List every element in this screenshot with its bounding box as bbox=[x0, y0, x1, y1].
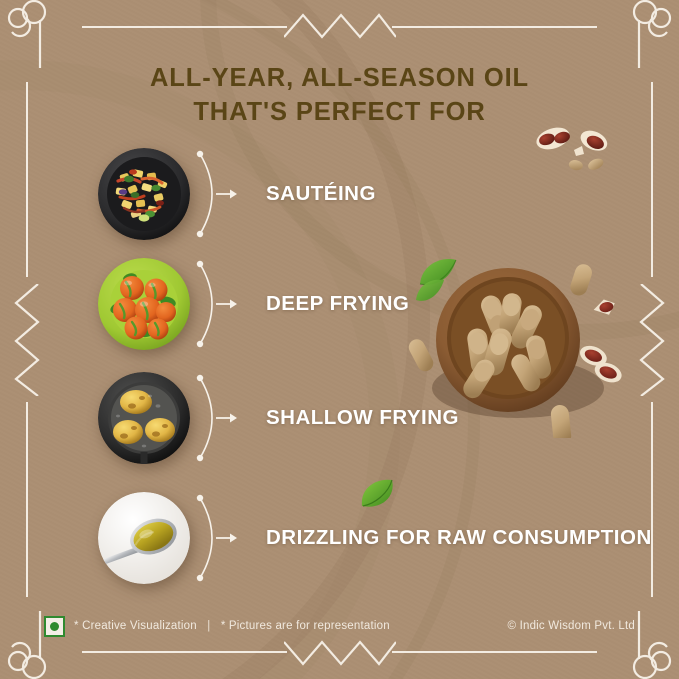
stir-fry-pan-image bbox=[98, 148, 190, 240]
connector-line bbox=[190, 372, 266, 464]
footer-notes: * Creative Visualization | * Pictures ar… bbox=[74, 620, 390, 632]
use-item-shallow-frying[interactable]: SHALLOW FRYING bbox=[98, 372, 459, 464]
use-label-deep-frying: DEEP FRYING bbox=[266, 292, 409, 316]
vegetarian-dot bbox=[50, 622, 59, 631]
use-item-deep-frying[interactable]: DEEP FRYING bbox=[98, 258, 409, 350]
footer-separator: | bbox=[207, 620, 210, 632]
title-line-1: ALL-YEAR, ALL-SEASON OIL bbox=[150, 64, 529, 92]
green-plate-fritters-image bbox=[98, 258, 190, 350]
use-item-drizzling[interactable]: DRIZZLING FOR RAW CONSUMPTION bbox=[98, 492, 652, 584]
use-item-sauteing[interactable]: SAUTÉING bbox=[98, 148, 376, 240]
connector-line bbox=[190, 258, 266, 350]
copyright-text: © Indic Wisdom Pvt. Ltd bbox=[508, 620, 635, 632]
footer-note-1: * Creative Visualization bbox=[74, 620, 197, 632]
use-label-sauteing: SAUTÉING bbox=[266, 182, 376, 206]
use-label-shallow-frying: SHALLOW FRYING bbox=[266, 406, 459, 430]
footer: * Creative Visualization | * Pictures ar… bbox=[44, 612, 635, 640]
spoon-of-oil-image bbox=[98, 492, 190, 584]
connector-line bbox=[190, 492, 266, 584]
page-title: ALL-YEAR, ALL-SEASON OIL THAT'S PERFECT … bbox=[0, 62, 679, 129]
black-pan-cutlets-image bbox=[98, 372, 190, 464]
connector-line bbox=[190, 148, 266, 240]
title-line-2: THAT'S PERFECT FOR bbox=[0, 96, 679, 130]
use-label-drizzling: DRIZZLING FOR RAW CONSUMPTION bbox=[266, 526, 652, 550]
footer-note-2: * Pictures are for representation bbox=[221, 620, 390, 632]
poster: ALL-YEAR, ALL-SEASON OIL THAT'S PERFECT … bbox=[0, 0, 679, 679]
vegetarian-mark-icon bbox=[44, 616, 65, 637]
